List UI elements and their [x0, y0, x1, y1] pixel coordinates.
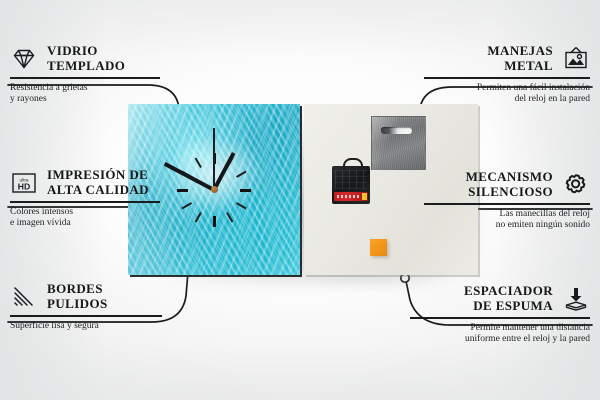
feature-subtitle: Resistencia a grietas y rayones — [10, 83, 160, 106]
battery-label — [337, 195, 360, 198]
metal-hanger-plate — [371, 116, 426, 170]
battery-cap — [362, 193, 367, 200]
feature-subtitle: Superficie lisa y segura — [10, 321, 162, 333]
diamond-icon — [10, 46, 38, 72]
svg-text:HD: HD — [18, 181, 30, 191]
infographic-canvas: VIDRIO TEMPLADO Resistencia a grietas y … — [0, 0, 600, 400]
feature-header: ESPACIADOR DE ESPUMA — [410, 284, 590, 313]
foam-spacer — [370, 239, 387, 256]
feature-title: ESPACIADOR DE ESPUMA — [464, 284, 553, 313]
feature-bordes-pulidos: BORDES PULIDOS Superficie lisa y segura — [10, 282, 162, 332]
feature-vidrio-templado: VIDRIO TEMPLADO Resistencia a grietas y … — [10, 44, 160, 106]
polished-edges-icon — [10, 284, 38, 310]
feature-espaciador-de-espuma: ESPACIADOR DE ESPUMA Permite mantener un… — [410, 284, 590, 346]
second-hand — [213, 128, 215, 190]
foam-spacer-icon — [562, 286, 590, 312]
feature-header: BORDES PULIDOS — [10, 282, 162, 311]
feature-subtitle: Permiten una fácil instalación del reloj… — [424, 83, 590, 106]
hanging-frame-icon — [562, 46, 590, 72]
feature-divider — [10, 315, 162, 317]
feature-divider — [10, 201, 160, 203]
feature-title: VIDRIO TEMPLADO — [47, 44, 125, 73]
clock-center-pin — [211, 186, 218, 193]
feature-divider — [10, 77, 160, 79]
feature-mecanismo-silencioso: MECANISMO SILENCIOSO Las manecillas del … — [424, 170, 590, 232]
feature-title: IMPRESIÓN DE ALTA CALIDAD — [47, 168, 149, 197]
gear-icon — [562, 172, 590, 198]
feature-divider — [424, 77, 590, 79]
feature-title: MANEJAS METAL — [487, 44, 553, 73]
feature-divider — [410, 317, 590, 319]
feature-header: MANEJAS METAL — [424, 44, 590, 73]
feature-subtitle: Permite mantener una distancia uniforme … — [410, 323, 590, 346]
feature-header: ultra HD IMPRESIÓN DE ALTA CALIDAD — [10, 168, 160, 197]
feature-title: BORDES PULIDOS — [47, 282, 108, 311]
battery — [334, 192, 368, 201]
feature-subtitle: Las manecillas del reloj no emiten ningú… — [424, 209, 590, 232]
feature-manejas-metal: MANEJAS METAL Permiten una fácil instala… — [424, 44, 590, 106]
mechanism-texture — [335, 170, 367, 189]
feature-header: MECANISMO SILENCIOSO — [424, 170, 590, 199]
feature-divider — [424, 203, 590, 205]
feature-title: MECANISMO SILENCIOSO — [466, 170, 553, 199]
clock-mechanism — [332, 166, 370, 204]
feature-subtitle: Colores intensos e imagen vívida — [10, 207, 160, 230]
feature-header: VIDRIO TEMPLADO — [10, 44, 160, 73]
ultra-hd-icon: ultra HD — [10, 170, 38, 196]
feature-impresion-alta-calidad: ultra HD IMPRESIÓN DE ALTA CALIDAD Color… — [10, 168, 160, 230]
hanger-slot — [381, 127, 412, 134]
